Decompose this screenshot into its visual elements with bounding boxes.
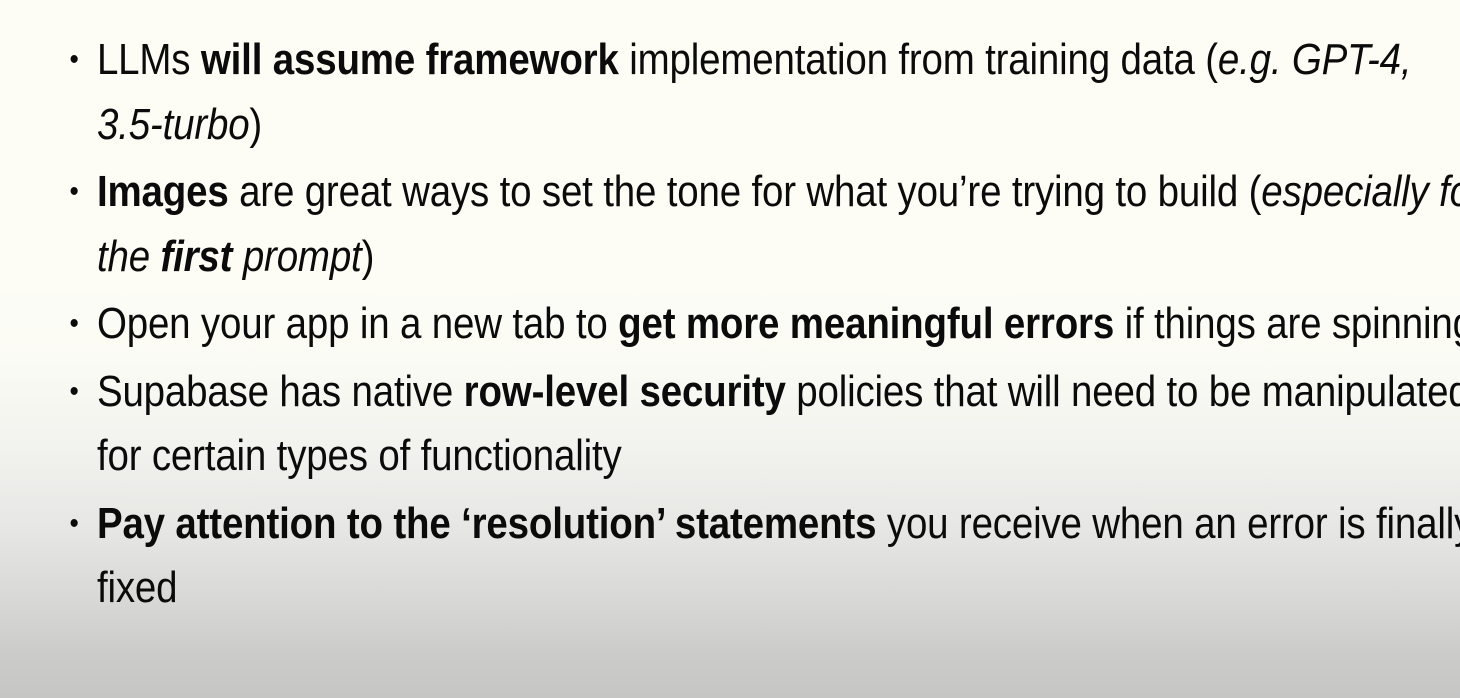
bullet-text: Pay attention to the ‘resolution’ statem… bbox=[97, 492, 1460, 621]
bullet-item-supabase-row-level-security: • Supabase has native row-level security… bbox=[58, 360, 1460, 489]
bullet-item-open-app-new-tab: • Open your app in a new tab to get more… bbox=[58, 292, 1460, 357]
bullet-point-icon: • bbox=[70, 360, 82, 425]
bullet-item-images-set-tone: • Images are great ways to set the tone … bbox=[58, 160, 1460, 289]
bullet-point-icon: • bbox=[70, 28, 82, 93]
bullet-list: • LLMs will assume framework implementat… bbox=[58, 28, 1446, 624]
bullet-point-icon: • bbox=[70, 492, 82, 557]
bullet-text: Open your app in a new tab to get more m… bbox=[97, 292, 1460, 357]
bullet-point-icon: • bbox=[70, 160, 82, 225]
bullet-item-llms-assume-framework: • LLMs will assume framework implementat… bbox=[58, 28, 1460, 157]
bullet-text: Images are great ways to set the tone fo… bbox=[97, 160, 1460, 289]
bullet-item-resolution-statements: • Pay attention to the ‘resolution’ stat… bbox=[58, 492, 1460, 621]
bullet-text: Supabase has native row-level security p… bbox=[97, 360, 1460, 489]
bullet-point-icon: • bbox=[70, 292, 82, 357]
slide-canvas: • LLMs will assume framework implementat… bbox=[0, 0, 1460, 698]
bullet-text: LLMs will assume framework implementatio… bbox=[97, 28, 1460, 157]
